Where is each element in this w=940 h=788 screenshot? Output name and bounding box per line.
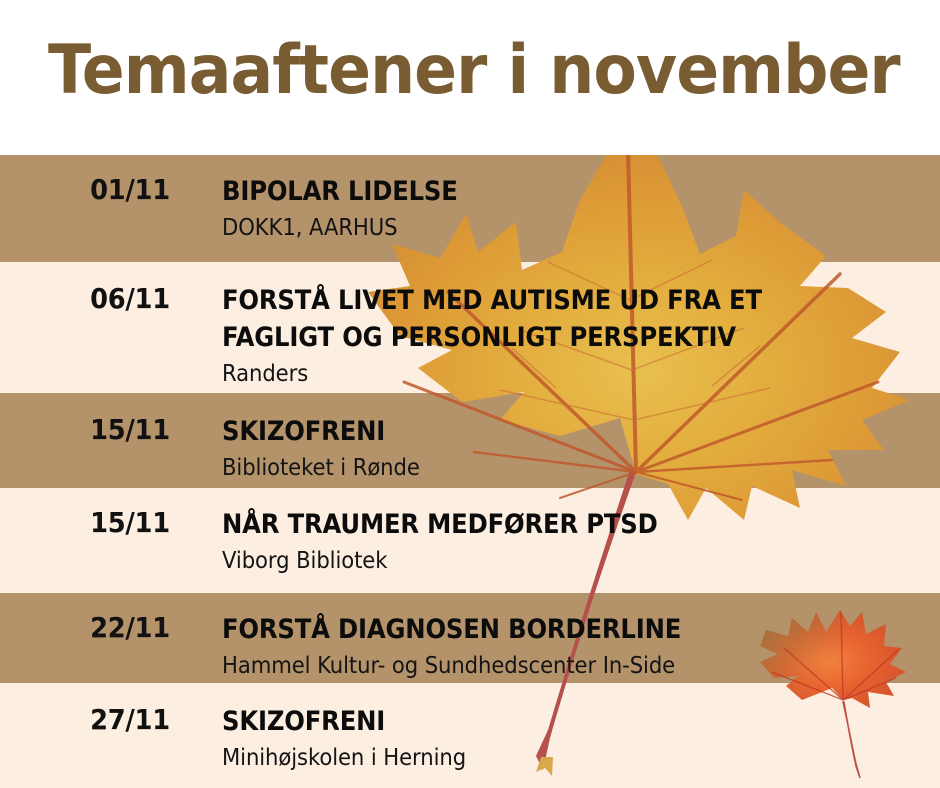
event-title: SKIZOFRENI [222,413,852,450]
event-body: SKIZOFRENIBiblioteket i Rønde [222,413,922,484]
event-body: SKIZOFRENIMinihøjskolen i Herning [222,703,922,774]
event-title: NÅR TRAUMER MEDFØRER PTSD [222,506,852,543]
event-title: BIPOLAR LIDELSE [222,173,852,210]
header-band: Temaaftener i november [0,0,940,155]
event-title: FORSTÅ DIAGNOSEN BORDERLINE [222,611,852,648]
event-venue: DOKK1, AARHUS [222,212,866,244]
event-body: FORSTÅ DIAGNOSEN BORDERLINEHammel Kultur… [222,611,922,682]
event-venue: Biblioteket i Rønde [222,452,866,484]
event-body: FORSTÅ LIVET MED AUTISME UD FRA ET FAGLI… [222,282,922,390]
event-body: NÅR TRAUMER MEDFØRER PTSDViborg Bibliote… [222,506,922,577]
event-venue: Viborg Bibliotek [222,545,866,577]
event-venue: Hammel Kultur- og Sundhedscenter In-Side [222,650,866,682]
event-title: SKIZOFRENI [222,703,852,740]
event-schedule-list: 01/11BIPOLAR LIDELSEDOKK1, AARHUS06/11FO… [0,155,940,788]
event-venue: Randers [222,358,866,390]
event-title: FORSTÅ LIVET MED AUTISME UD FRA ET FAGLI… [222,282,852,356]
event-date: 06/11 [61,282,199,316]
poster-canvas: Temaaftener i november 01/11BIPOLAR LIDE… [0,0,940,788]
event-date: 22/11 [61,611,199,645]
event-venue: Minihøjskolen i Herning [222,742,866,774]
event-body: BIPOLAR LIDELSEDOKK1, AARHUS [222,173,922,244]
event-date: 01/11 [61,173,199,207]
event-date: 27/11 [61,703,199,737]
event-date: 15/11 [61,413,199,447]
event-date: 15/11 [61,506,199,540]
page-title: Temaaftener i november [48,32,900,110]
